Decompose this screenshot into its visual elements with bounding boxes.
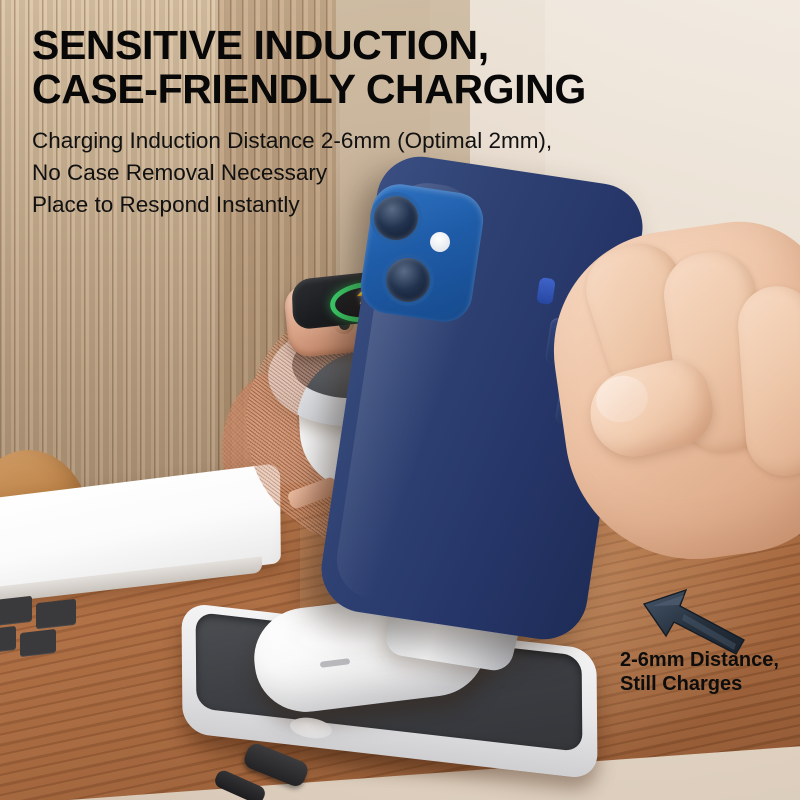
callout-line-2: Still Charges bbox=[620, 672, 800, 696]
laptop-key bbox=[0, 596, 32, 627]
headline-line-2: CASE-FRIENDLY CHARGING bbox=[32, 68, 732, 112]
subheading-line-3: Place to Respond Instantly bbox=[32, 189, 692, 221]
laptop-key bbox=[36, 599, 76, 630]
product-marketing-image: ⚡ SENSITIVE INDUCTION, CASE-FRIENDLY CHA… bbox=[0, 0, 800, 800]
headline-line-1: SENSITIVE INDUCTION, bbox=[32, 24, 732, 68]
laptop-key bbox=[0, 626, 16, 654]
callout-line-1: 2-6mm Distance, bbox=[620, 648, 800, 672]
page-title: SENSITIVE INDUCTION, CASE-FRIENDLY CHARG… bbox=[32, 24, 732, 112]
subheading: Charging Induction Distance 2-6mm (Optim… bbox=[32, 125, 692, 221]
distance-callout: 2-6mm Distance, Still Charges bbox=[620, 648, 800, 697]
subheading-line-2: No Case Removal Necessary bbox=[32, 157, 692, 189]
laptop-key bbox=[20, 629, 56, 657]
subheading-line-1: Charging Induction Distance 2-6mm (Optim… bbox=[32, 125, 692, 157]
